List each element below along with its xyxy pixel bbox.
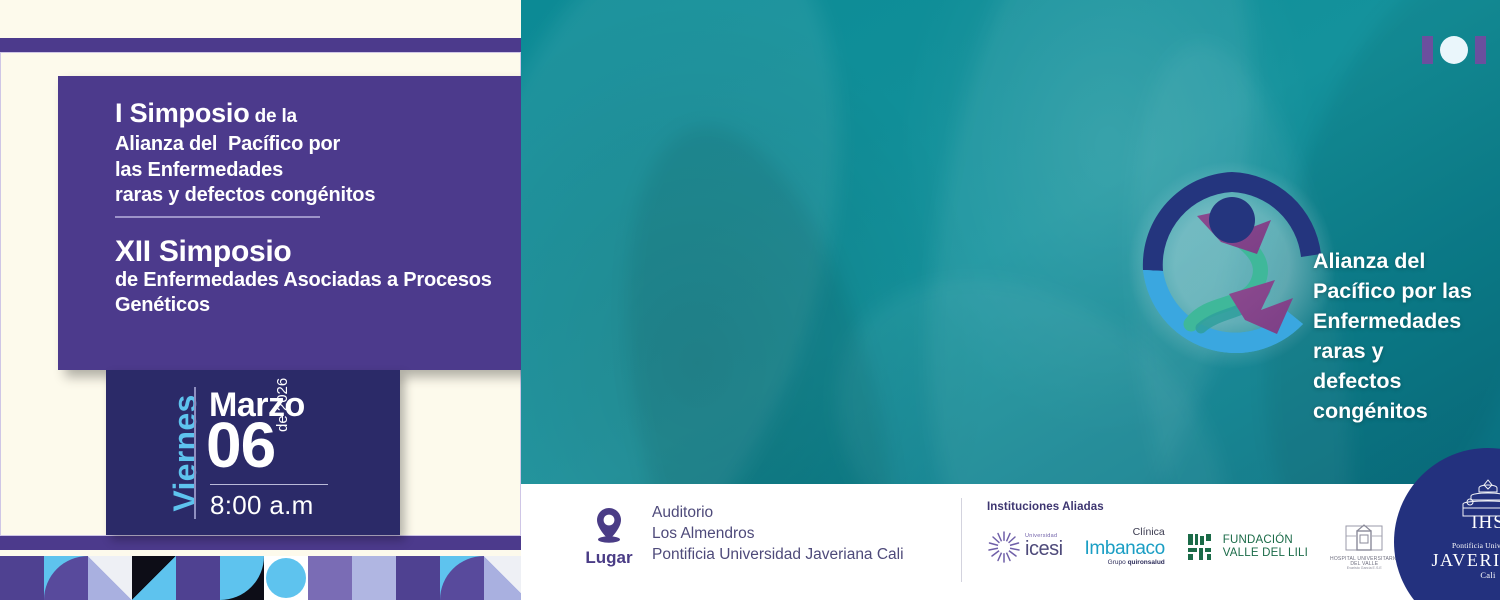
geo-tile-solid — [0, 556, 44, 600]
title-simposio-2: XII Simposio — [115, 235, 521, 268]
geo-tile-quarter-tl — [220, 556, 264, 600]
decor-circle — [1440, 36, 1468, 64]
allies-logo-row: Universidad icesi Clínica Imbanaco Grupo… — [987, 522, 1453, 571]
geo-tile-quarter-br — [440, 556, 484, 600]
imbanaco-sub-prefix: Grupo — [1108, 559, 1126, 566]
imbanaco-top-label: Clínica — [1085, 527, 1165, 538]
allied-institutions: Instituciones Aliadas — [987, 501, 1453, 571]
geo-tile-quarter-br — [44, 556, 88, 600]
geo-tile-solid — [352, 556, 396, 600]
geo-tile-solid — [308, 556, 352, 600]
javeriana-crest-text: IHS — [1471, 512, 1500, 533]
event-banner: I Simposio de la Alianza del Pacífico po… — [0, 0, 1500, 600]
title-subtitle-1: Alianza del Pacífico por las Enfermedade… — [115, 132, 521, 209]
footer-bar: Lugar Auditorio Los Almendros Pontificia… — [521, 484, 1500, 600]
decor-rect-left — [1422, 36, 1433, 64]
geo-tile-diag-tl — [88, 556, 132, 600]
lili-line-2: VALLE DEL LILI — [1223, 547, 1308, 560]
imbanaco-main-label: Imbanaco — [1085, 539, 1165, 558]
date-vertical-divider — [194, 387, 196, 519]
geo-tile-diag-tl — [484, 556, 521, 600]
geo-tile-diag-tr — [132, 556, 176, 600]
javeriana-line-1: Pontificia Universidad — [1428, 541, 1500, 550]
title-subtitle-2: de Enfermedades Asociadas a Procesos Gen… — [115, 268, 521, 319]
decorative-dots — [1422, 36, 1486, 64]
javeriana-line-2: JAVERIANA — [1428, 550, 1500, 570]
geo-tile-solid — [396, 556, 440, 600]
icesi-burst-icon — [987, 530, 1021, 564]
huv-building-icon — [1344, 522, 1384, 552]
valle-del-lili-mark-icon — [1187, 533, 1217, 561]
javeriana-inner: IHS Pontificia Universidad JAVERIANA Cal… — [1428, 478, 1500, 580]
date-year: de 2026 — [274, 378, 291, 432]
title-simposio-1: I Simposio de la — [115, 98, 521, 132]
venue-block: Lugar Auditorio Los Almendros Pontificia… — [578, 502, 904, 568]
logo-fundacion-valle-del-lili: FUNDACIÓN VALLE DEL LILI — [1187, 533, 1308, 561]
alianza-pacifico-logo — [1125, 158, 1339, 372]
lili-line-1: FUNDACIÓN — [1223, 534, 1308, 547]
title-main-1-suffix: de la — [250, 106, 297, 127]
geometric-pattern-strip — [0, 556, 521, 600]
venue-address: Auditorio Los Almendros Pontificia Unive… — [652, 502, 904, 568]
icesi-main-label: icesi — [1025, 539, 1063, 559]
date-time: 8:00 a.m — [210, 490, 314, 521]
allies-title: Instituciones Aliadas — [987, 501, 1453, 513]
venue-label: Lugar — [585, 548, 632, 568]
logo-imbanaco: Clínica Imbanaco Grupo quironsalud — [1085, 527, 1165, 566]
geo-tile-solid — [176, 556, 220, 600]
title-divider — [115, 216, 320, 218]
javeriana-crest-icon: IHS — [1457, 478, 1500, 534]
title-main-1: I Simposio — [115, 98, 250, 128]
footer-divider — [961, 498, 962, 582]
imbanaco-quironsalud: quironsalud — [1128, 559, 1165, 566]
hero-teal-background: Alianza del Pacífico por las Enfermedade… — [521, 0, 1500, 484]
title-card: I Simposio de la Alianza del Pacífico po… — [58, 76, 521, 370]
date-horizontal-divider — [210, 484, 328, 485]
left-panel: I Simposio de la Alianza del Pacífico po… — [0, 0, 521, 600]
javeriana-line-3: Cali — [1428, 570, 1500, 580]
huv-line-3: Evaristo García E.S.E — [1330, 567, 1399, 571]
venue-pin-column: Lugar — [578, 506, 640, 568]
location-pin-icon — [594, 506, 624, 546]
logo-icesi: Universidad icesi — [987, 530, 1063, 564]
imbanaco-sub-label: Grupo quironsalud — [1085, 560, 1165, 567]
geo-tile-circle — [264, 556, 308, 600]
date-day: 06 — [206, 413, 275, 477]
hero-tagline: Alianza del Pacífico por las Enfermedade… — [1313, 246, 1500, 426]
date-card: Viernes Marzo 06 de 2026 8:00 a.m — [106, 370, 400, 535]
decor-rect-right — [1475, 36, 1486, 64]
logo-hospital-universitario-del-valle: HOSPITAL UNIVERSITARIO DEL VALLE Evarist… — [1330, 522, 1399, 571]
